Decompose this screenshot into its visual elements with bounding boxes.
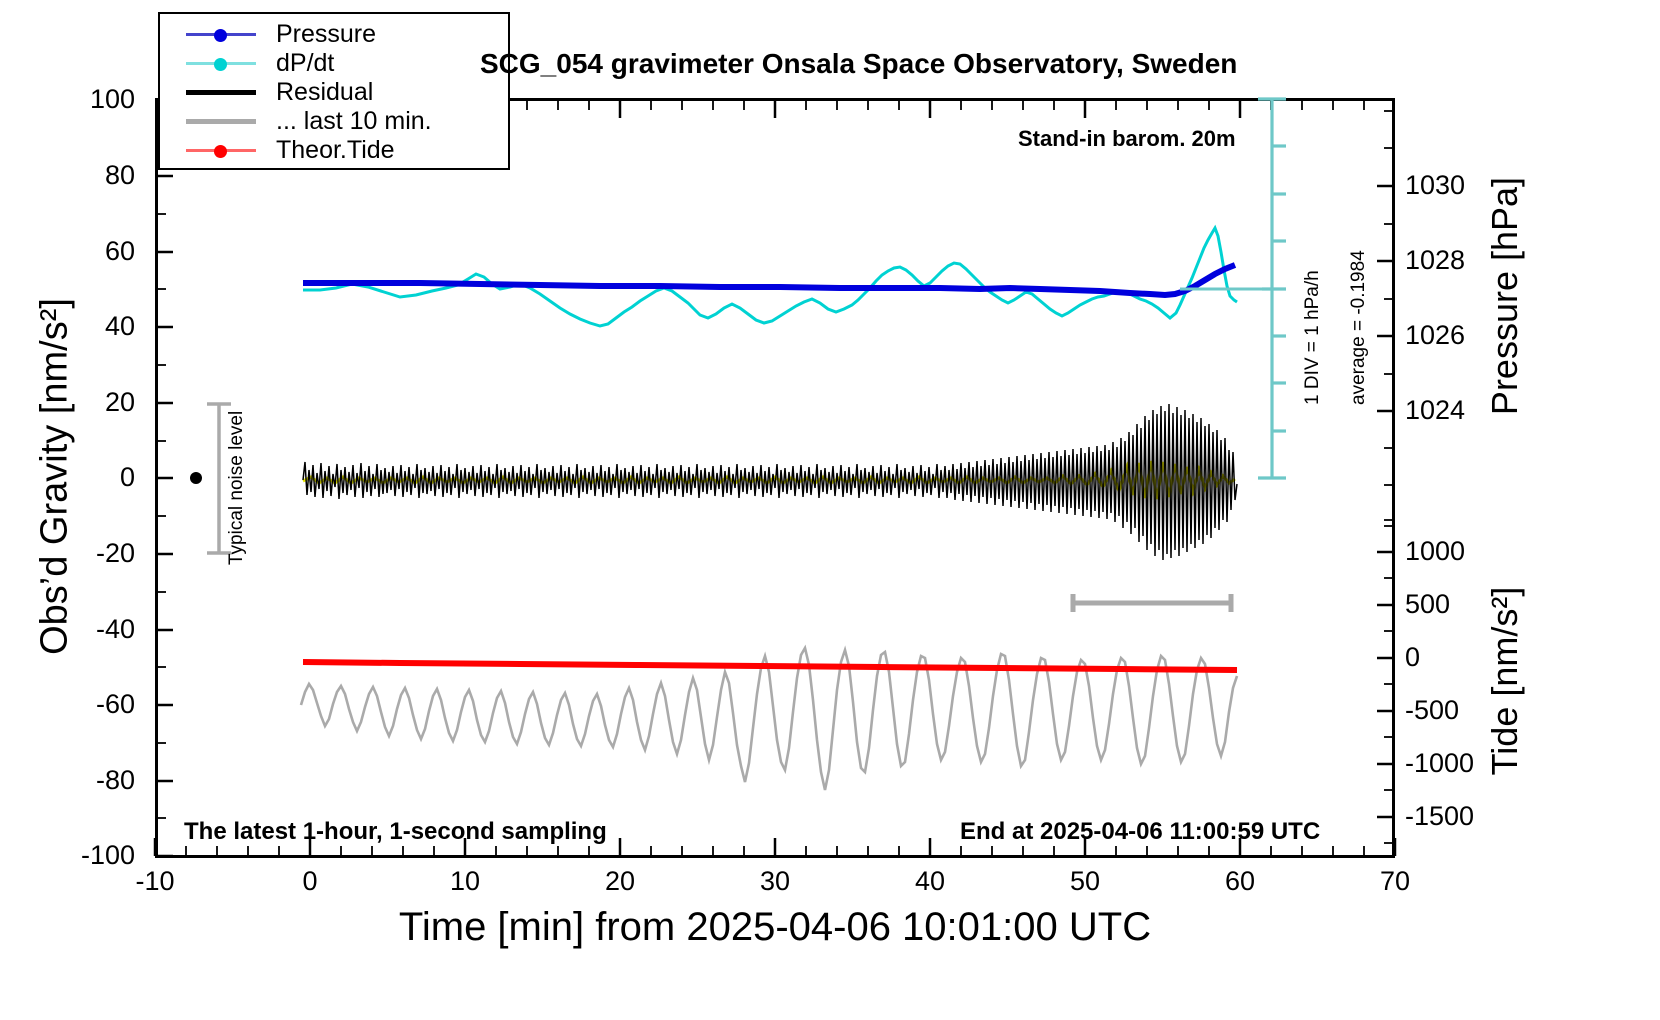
legend-label-residual: Residual bbox=[276, 78, 373, 107]
chart-title: SCG_054 gravimeter Onsala Space Observat… bbox=[480, 48, 1237, 80]
legend-item-residual[interactable]: Residual bbox=[160, 78, 508, 107]
x-tick-label-4: 30 bbox=[725, 866, 825, 897]
y-tick-label-pressure-0: 1030 bbox=[1405, 170, 1525, 201]
y-tick-label-tide-1: 500 bbox=[1405, 589, 1525, 620]
legend-label-pressure: Pressure bbox=[276, 20, 376, 49]
legend-swatch-last-10-min bbox=[182, 107, 260, 136]
legend-item-dpdt[interactable]: dP/dt bbox=[160, 49, 508, 78]
y-tick-label-tide-5: -1500 bbox=[1405, 801, 1525, 832]
legend-item-theor-tide[interactable]: Theor.Tide bbox=[160, 136, 508, 165]
y-tick-label-left-0: 100 bbox=[35, 84, 135, 115]
legend-label-theor-tide: Theor.Tide bbox=[276, 136, 395, 165]
y-tick-label-left-7: -40 bbox=[35, 614, 135, 645]
annotation-typical-noise-level: Typical noise level bbox=[226, 411, 248, 565]
legend-label-last-10-min: ... last 10 min. bbox=[276, 107, 432, 136]
x-tick-label-7: 60 bbox=[1190, 866, 1290, 897]
x-tick-label-6: 50 bbox=[1035, 866, 1135, 897]
x-tick-label-8: 70 bbox=[1345, 866, 1445, 897]
plot-area bbox=[155, 98, 1395, 858]
y-tick-label-left-1: 80 bbox=[35, 160, 135, 191]
y-tick-label-tide-0: 1000 bbox=[1405, 536, 1525, 567]
legend-item-pressure[interactable]: Pressure bbox=[160, 20, 508, 49]
y-tick-label-pressure-2: 1026 bbox=[1405, 320, 1525, 351]
y-tick-label-left-6: -20 bbox=[35, 538, 135, 569]
legend-item-last-10-min[interactable]: ... last 10 min. bbox=[160, 107, 508, 136]
legend-label-dpdt: dP/dt bbox=[276, 49, 334, 78]
annotation-div-scale: 1 DIV = 1 hPa/h bbox=[1302, 270, 1324, 405]
y-tick-label-tide-4: -1000 bbox=[1405, 748, 1525, 779]
annotation-sampling-note: The latest 1-hour, 1-second sampling bbox=[184, 818, 607, 846]
x-tick-label-1: 0 bbox=[260, 866, 360, 897]
y-tick-label-tide-2: 0 bbox=[1405, 642, 1525, 673]
annotation-stand-in-barometer: Stand-in barom. 20m bbox=[1018, 126, 1236, 152]
x-tick-label-5: 40 bbox=[880, 866, 980, 897]
legend-swatch-dpdt bbox=[182, 49, 260, 78]
chart-legend: Pressure dP/dt Residual ... last 10 min.… bbox=[158, 12, 510, 170]
y-tick-label-left-5: 0 bbox=[35, 462, 135, 493]
y-tick-label-left-2: 60 bbox=[35, 236, 135, 267]
y-tick-label-left-3: 40 bbox=[35, 311, 135, 342]
legend-swatch-theor-tide bbox=[182, 136, 260, 165]
legend-swatch-pressure bbox=[182, 20, 260, 49]
x-tick-label-3: 20 bbox=[570, 866, 670, 897]
y-tick-label-left-4: 20 bbox=[35, 387, 135, 418]
x-tick-label-2: 10 bbox=[415, 866, 515, 897]
y-axis-title-pressure: Pressure [hPa] bbox=[1484, 86, 1526, 506]
annotation-dpdt-average: average = -0.1984 bbox=[1348, 250, 1370, 405]
annotation-end-time: End at 2025-04-06 11:00:59 UTC bbox=[960, 818, 1320, 846]
y-tick-label-pressure-1: 1028 bbox=[1405, 245, 1525, 276]
x-axis-title: Time [min] from 2025-04-06 10:01:00 UTC bbox=[160, 905, 1390, 950]
y-tick-label-tide-3: -500 bbox=[1405, 695, 1525, 726]
y-tick-label-left-9: -80 bbox=[35, 765, 135, 796]
chart-canvas: Pressure dP/dt Residual ... last 10 min.… bbox=[0, 0, 1660, 1020]
legend-swatch-residual bbox=[182, 78, 260, 107]
x-tick-label-0: -10 bbox=[105, 866, 205, 897]
y-tick-label-left-8: -60 bbox=[35, 689, 135, 720]
y-tick-label-pressure-3: 1024 bbox=[1405, 395, 1525, 426]
